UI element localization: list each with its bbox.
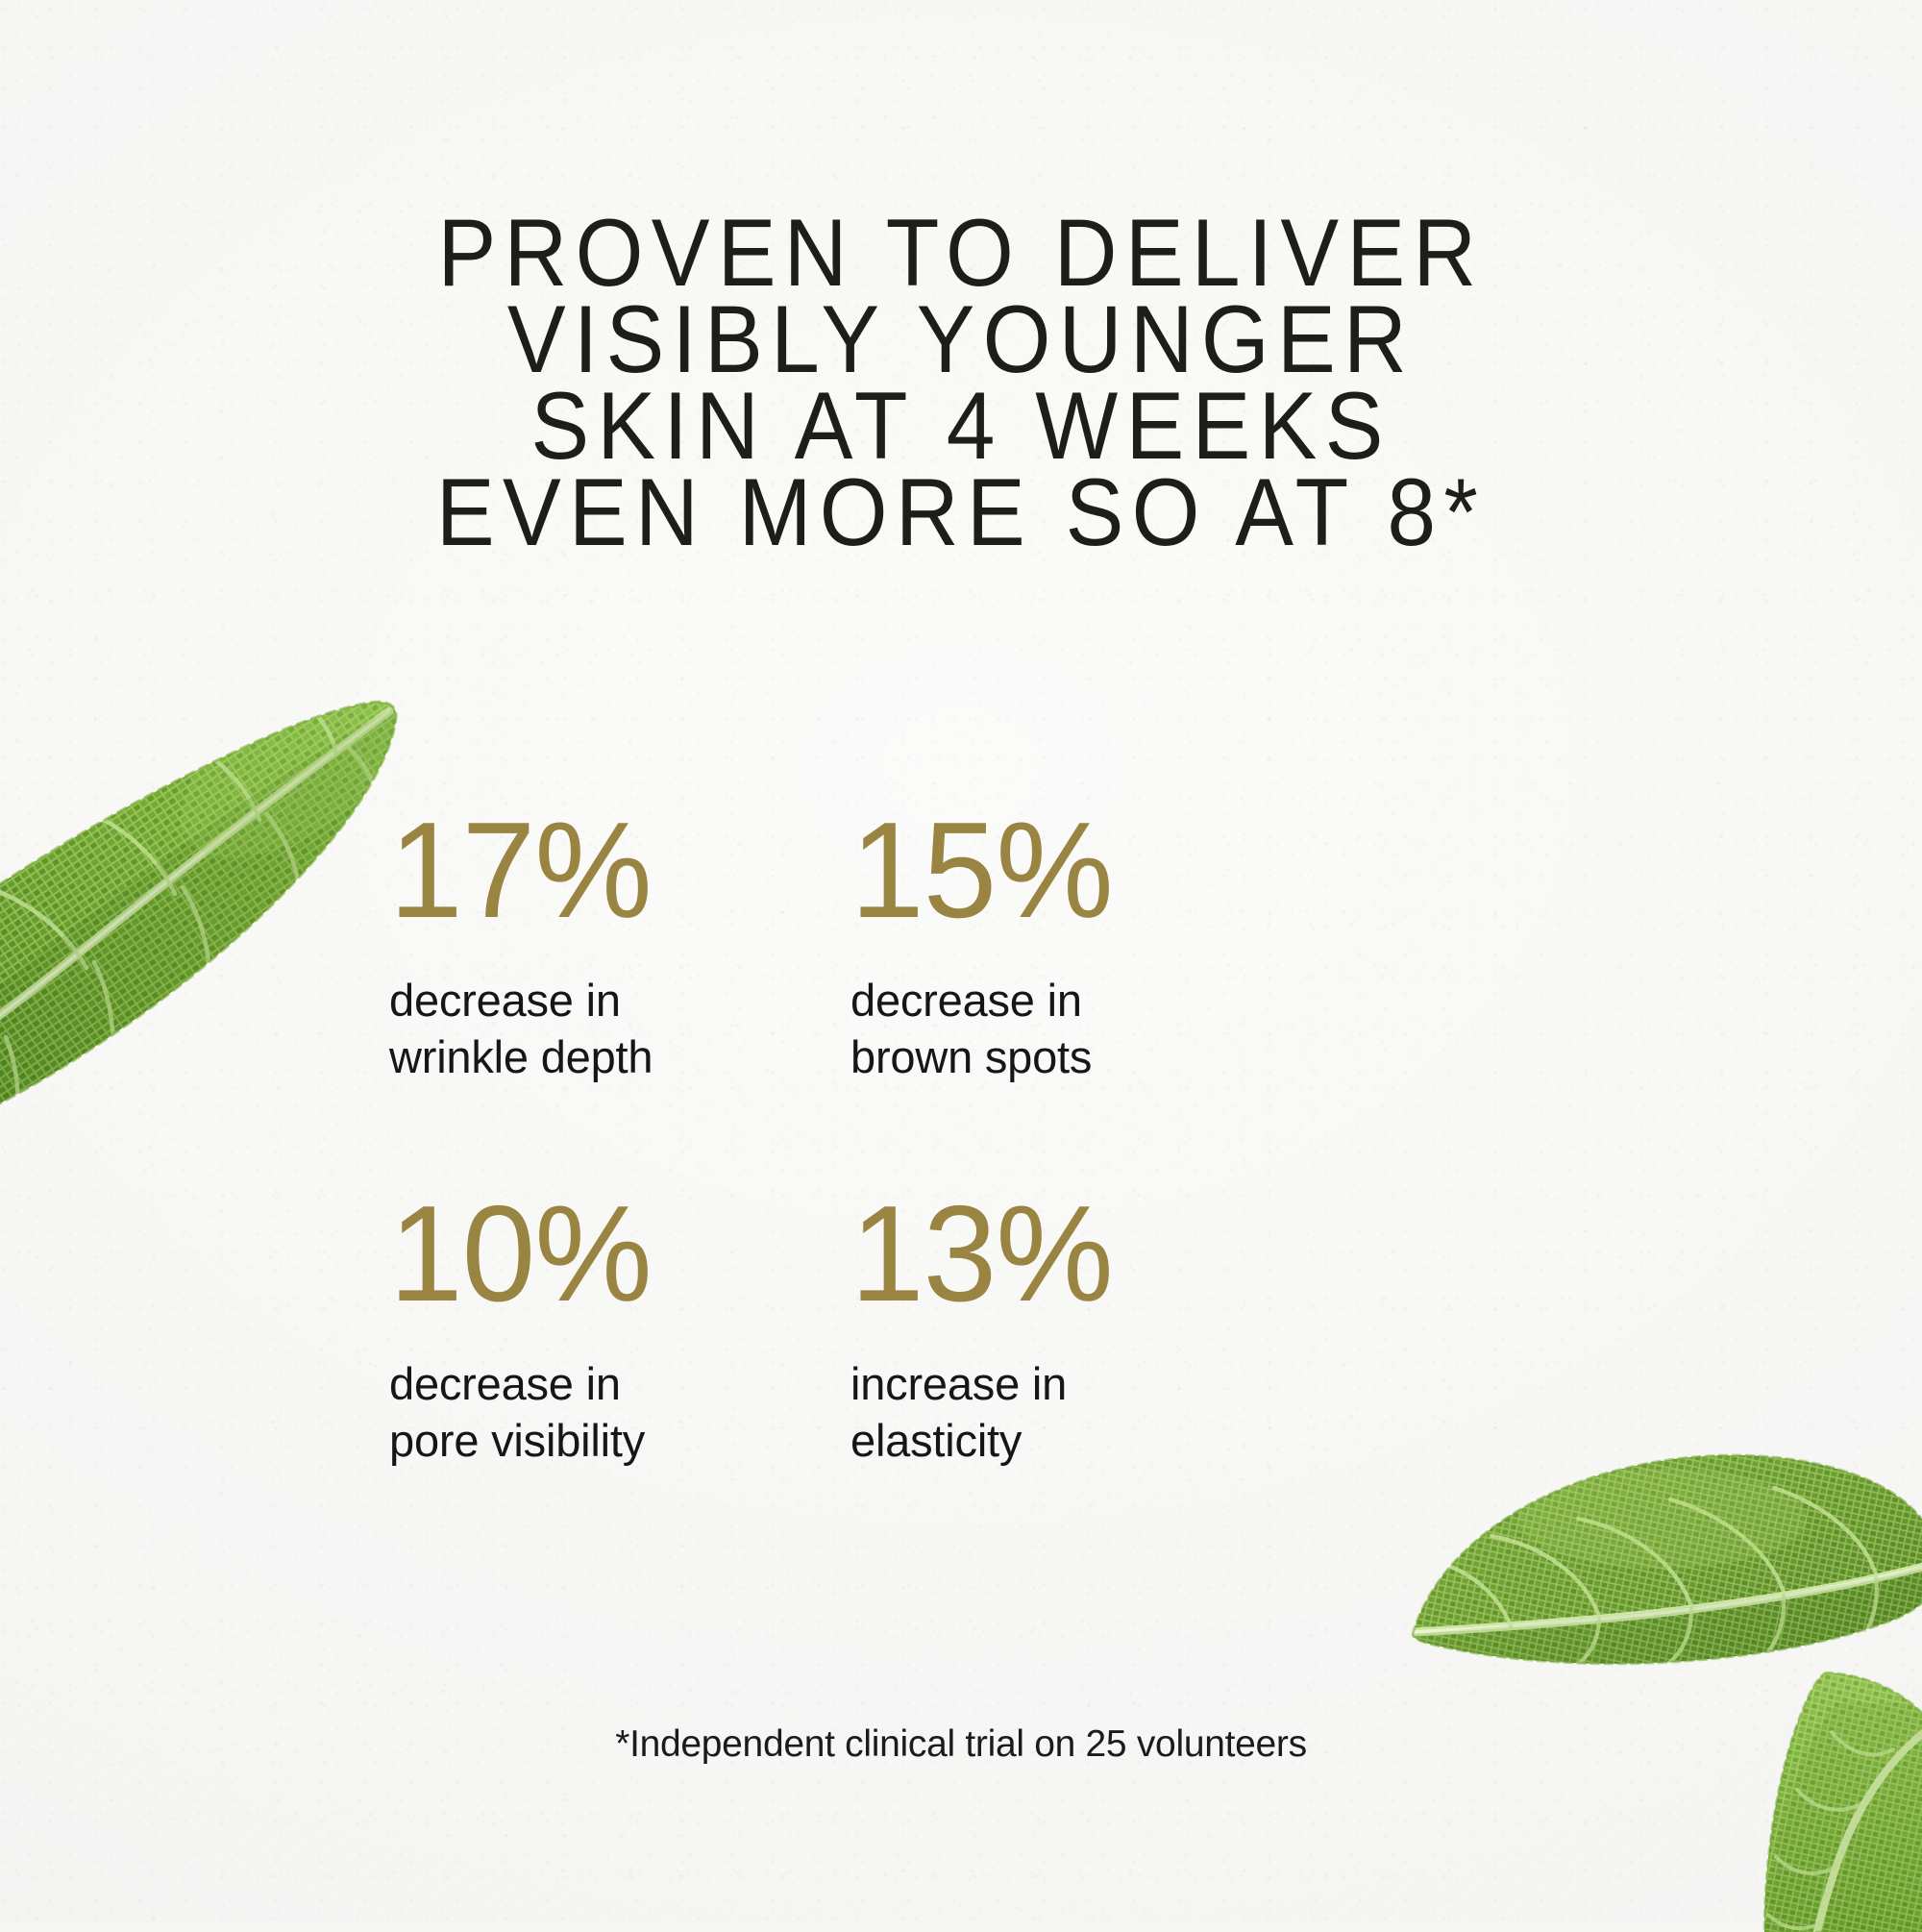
stat-value-brown-spots: 15% bbox=[850, 803, 1172, 939]
stat-value-pore-visibility: 10% bbox=[389, 1186, 757, 1323]
stat-label-pore-visibility: decrease in pore visibility bbox=[389, 1355, 769, 1469]
stat-label-elasticity: increase in elasticity bbox=[850, 1355, 1182, 1469]
page-headline: PROVEN TO DELIVER VISIBLY YOUNGER SKIN A… bbox=[77, 210, 1845, 556]
stat-elasticity: 13% increase in elasticity bbox=[769, 1186, 1182, 1469]
stat-pore-visibility: 10% decrease in pore visibility bbox=[356, 1186, 769, 1469]
stats-row-2: 10% decrease in pore visibility 13% incr… bbox=[356, 1186, 1182, 1469]
statistics-grid: 17% decrease in wrinkle depth 15% decrea… bbox=[356, 803, 1182, 1469]
stat-value-wrinkle-depth: 17% bbox=[389, 803, 757, 939]
stat-label-brown-spots: decrease in brown spots bbox=[850, 972, 1182, 1085]
stat-value-elasticity: 13% bbox=[850, 1186, 1172, 1323]
stats-row-1: 17% decrease in wrinkle depth 15% decrea… bbox=[356, 803, 1182, 1085]
headline-line-3: SKIN AT 4 WEEKS bbox=[77, 383, 1845, 469]
stat-label-wrinkle-depth: decrease in wrinkle depth bbox=[389, 972, 769, 1085]
stat-brown-spots: 15% decrease in brown spots bbox=[769, 803, 1182, 1085]
headline-line-2: VISIBLY YOUNGER bbox=[77, 296, 1845, 383]
headline-line-1: PROVEN TO DELIVER bbox=[77, 210, 1845, 296]
headline-line-4: EVEN MORE SO AT 8* bbox=[77, 469, 1845, 556]
stat-wrinkle-depth: 17% decrease in wrinkle depth bbox=[356, 803, 769, 1085]
clinical-trial-footnote: *Independent clinical trial on 25 volunt… bbox=[0, 1723, 1922, 1766]
